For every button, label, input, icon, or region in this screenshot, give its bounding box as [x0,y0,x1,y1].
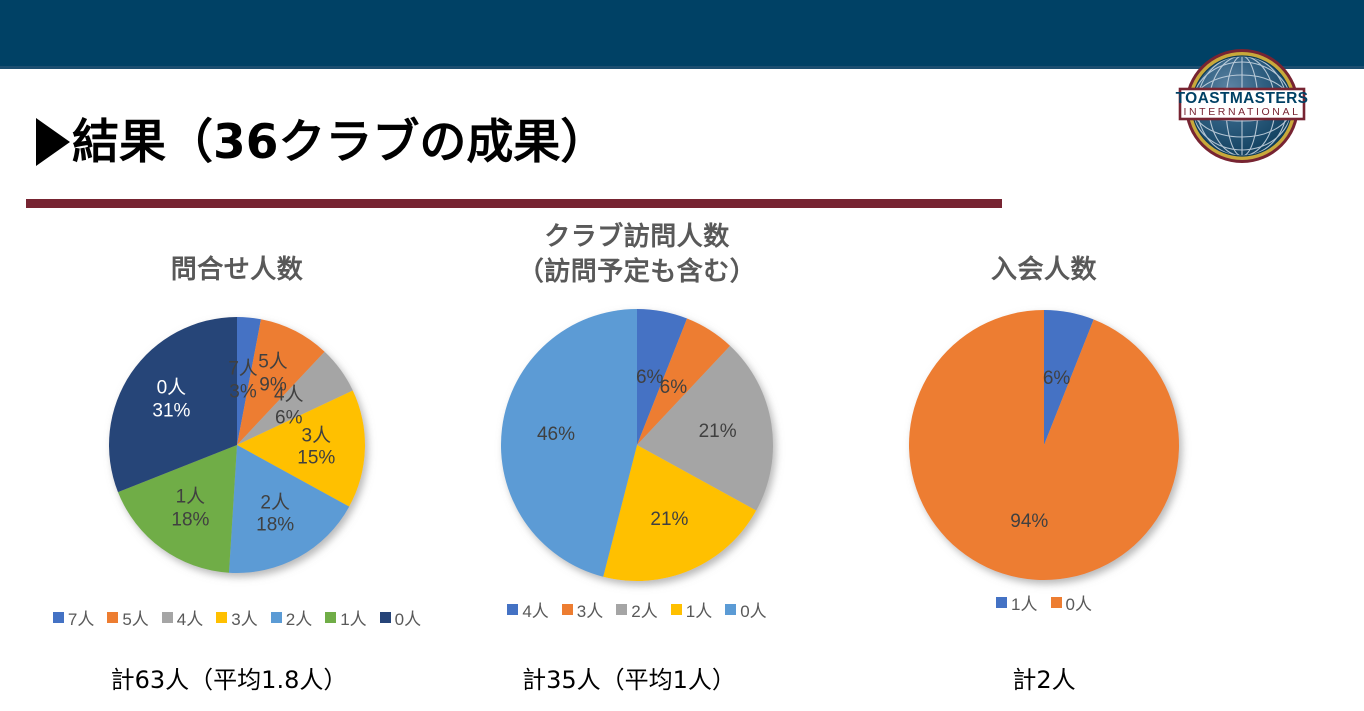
legend-swatch [271,612,282,623]
legend-swatch [107,612,118,623]
chart-legend: 4人3人2人1人0人 [427,597,847,622]
pie-svg [427,303,847,603]
chart-legend: 7人5人4人3人2人1人0人 [27,605,447,630]
chart-title: 問合せ人数 [27,253,447,288]
legend-item[interactable]: 0人 [1051,590,1092,615]
legend-label: 2人 [631,597,657,622]
chart-title: 入会人数 [834,253,1254,288]
legend-swatch [507,604,518,615]
pie-chart: 7人3%5人9%4人6%3人15%2人18%1人18%0人31% [27,303,447,603]
chart-caption: 計63人（平均1.8人） [19,660,439,695]
logo-line2: INTERNATIONAL [1183,106,1300,118]
header-bar-underline [0,66,1364,69]
chart-title-line: （訪問予定も含む） [427,255,847,290]
legend-swatch [380,612,391,623]
legend-label: 7人 [68,605,94,630]
legend-item[interactable]: 1人 [671,597,712,622]
legend-swatch [562,604,573,615]
legend-label: 5人 [122,605,148,630]
chart-legend: 1人0人 [834,590,1254,615]
title-underline-rule [26,199,1002,208]
legend-swatch [996,597,1007,608]
legend-swatch [53,612,64,623]
chart-title-line: クラブ訪問人数 [427,220,847,255]
legend-label: 1人 [1011,590,1037,615]
legend-swatch [671,604,682,615]
legend-item[interactable]: 4人 [162,605,203,630]
legend-label: 3人 [577,597,603,622]
legend-label: 4人 [177,605,203,630]
chart-title-line: 入会人数 [834,253,1254,288]
pie-chart: 6%6%21%21%46% [427,303,847,603]
legend-swatch [725,604,736,615]
legend-item[interactable]: 2人 [271,605,312,630]
triangle-bullet-icon [36,118,70,166]
legend-label: 0人 [1066,590,1092,615]
legend-label: 4人 [522,597,548,622]
legend-label: 0人 [395,605,421,630]
chart-caption: 計2人 [834,660,1254,695]
page-title: 結果（36クラブの成果） [72,119,607,166]
legend-label: 1人 [686,597,712,622]
pie-chart: 6%94% [834,303,1254,603]
legend-label: 1人 [340,605,366,630]
legend-label: 0人 [740,597,766,622]
slide: TOASTMASTERS INTERNATIONAL 結果（36クラブの成果） … [0,0,1364,711]
slide-title-row: 結果（36クラブの成果） [36,118,607,166]
legend-item[interactable]: 1人 [996,590,1037,615]
legend-item[interactable]: 3人 [562,597,603,622]
legend-item[interactable]: 0人 [380,605,421,630]
pie-svg [27,303,447,603]
chart-inquiries: 問合せ人数 7人3%5人9%4人6%3人15%2人18%1人18%0人31% 7… [27,215,447,655]
chart-caption: 計35人（平均1人） [419,660,839,695]
logo-line1: TOASTMASTERS [1176,90,1309,107]
legend-item[interactable]: 0人 [725,597,766,622]
legend-swatch [616,604,627,615]
legend-label: 3人 [231,605,257,630]
legend-swatch [325,612,336,623]
header-bar [0,0,1364,66]
chart-title-line: 問合せ人数 [27,253,447,288]
legend-label: 2人 [286,605,312,630]
chart-title: クラブ訪問人数（訪問予定も含む） [427,220,847,290]
charts-row: 問合せ人数 7人3%5人9%4人6%3人15%2人18%1人18%0人31% 7… [0,215,1364,655]
legend-item[interactable]: 1人 [325,605,366,630]
chart-new-members: 入会人数 6%94% 1人0人 計2人 [834,215,1254,655]
legend-item[interactable]: 2人 [616,597,657,622]
toastmasters-logo: TOASTMASTERS INTERNATIONAL [1166,47,1318,165]
legend-item[interactable]: 5人 [107,605,148,630]
legend-item[interactable]: 3人 [216,605,257,630]
legend-item[interactable]: 7人 [53,605,94,630]
legend-item[interactable]: 4人 [507,597,548,622]
legend-swatch [162,612,173,623]
pie-svg [834,303,1254,603]
legend-swatch [1051,597,1062,608]
legend-swatch [216,612,227,623]
chart-club-visits: クラブ訪問人数（訪問予定も含む） 6%6%21%21%46% 4人3人2人1人0… [427,215,847,655]
